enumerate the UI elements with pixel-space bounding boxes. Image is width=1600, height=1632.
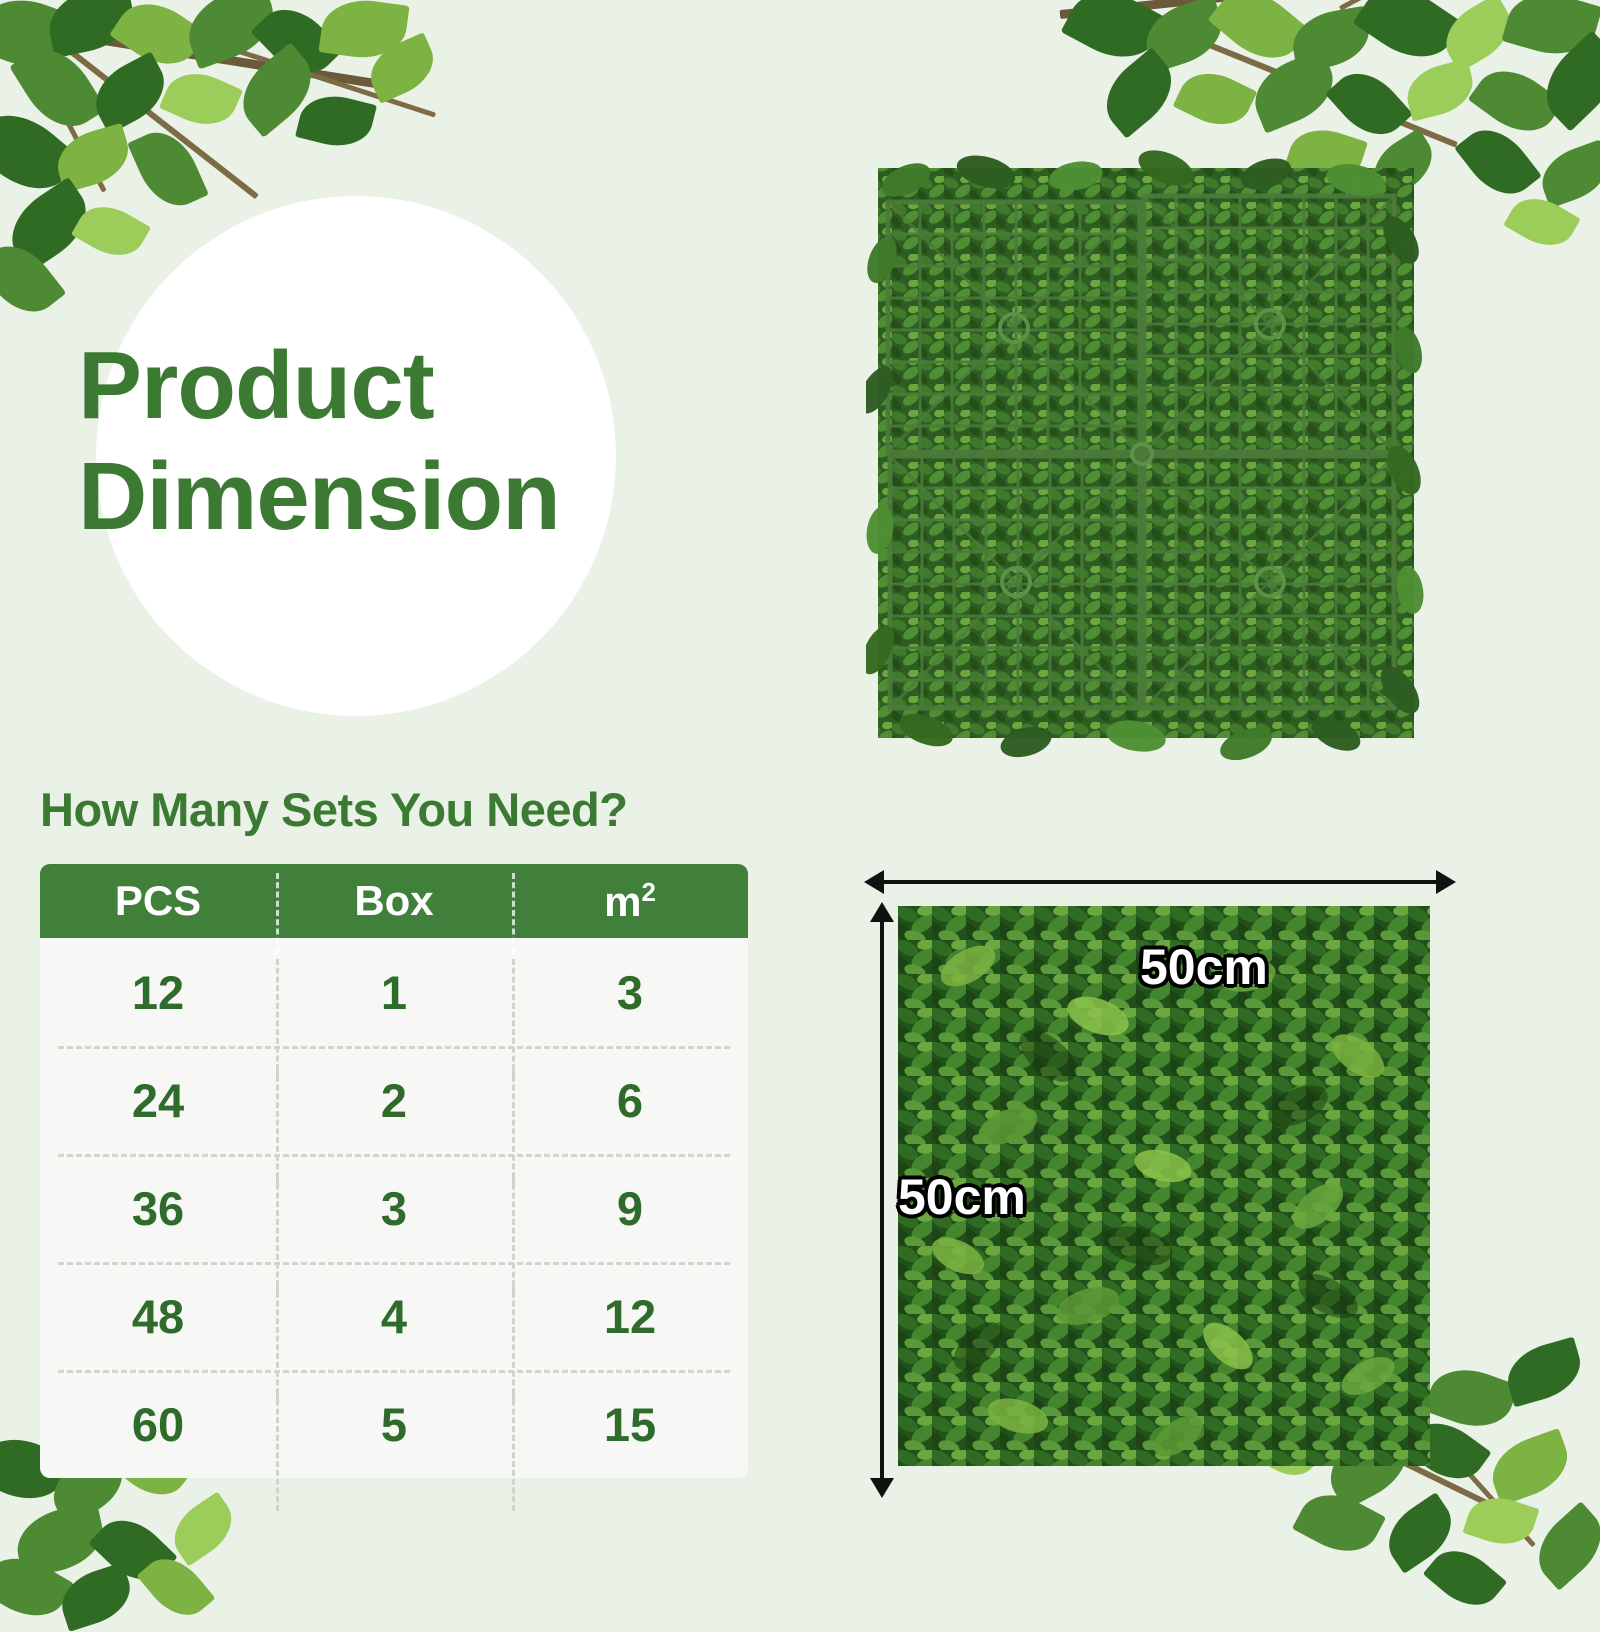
height-dimension-arrow [880,920,884,1480]
page-title-line2: Dimension [78,441,838,552]
cell-pcs: 12 [40,965,276,1020]
cell-pcs: 36 [40,1181,276,1236]
table-header-box: Box [276,877,512,925]
cell-pcs: 48 [40,1289,276,1344]
product-image-back-panel [866,150,1426,760]
width-dimension-arrow [882,880,1438,884]
table-row: 48 4 12 [40,1262,748,1370]
page-title: Product Dimension [78,330,838,553]
width-dimension-label: 50cm [1140,938,1268,996]
cell-sqm: 6 [512,1073,748,1128]
cell-sqm: 12 [512,1289,748,1344]
table-row: 60 5 15 [40,1370,748,1478]
table-body: 12 1 3 24 2 6 36 3 9 48 4 12 60 5 [40,938,748,1478]
cell-pcs: 60 [40,1397,276,1452]
cell-box: 2 [276,1073,512,1128]
cell-sqm: 15 [512,1397,748,1452]
cell-sqm: 9 [512,1181,748,1236]
table-row: 12 1 3 [40,938,748,1046]
section-subheading: How Many Sets You Need? [40,782,627,837]
table-header-row: PCS Box m2 [40,864,748,938]
cell-box: 4 [276,1289,512,1344]
infographic-canvas: Product Dimension How Many Sets You Need… [0,0,1600,1600]
cell-box: 3 [276,1181,512,1236]
cell-pcs: 24 [40,1073,276,1128]
cell-sqm: 3 [512,965,748,1020]
table-header-pcs: PCS [40,877,276,925]
table-header-sqm: m2 [512,877,748,926]
sets-table: PCS Box m2 12 1 3 24 2 6 36 3 9 48 4 [40,864,748,1478]
hedge-back-grid-illustration [866,150,1426,760]
cell-box: 5 [276,1397,512,1452]
table-row: 24 2 6 [40,1046,748,1154]
cell-box: 1 [276,965,512,1020]
table-row: 36 3 9 [40,1154,748,1262]
page-title-line1: Product [78,330,838,441]
sqm-superscript: 2 [641,877,655,907]
height-dimension-label: 50cm [898,1168,1026,1226]
